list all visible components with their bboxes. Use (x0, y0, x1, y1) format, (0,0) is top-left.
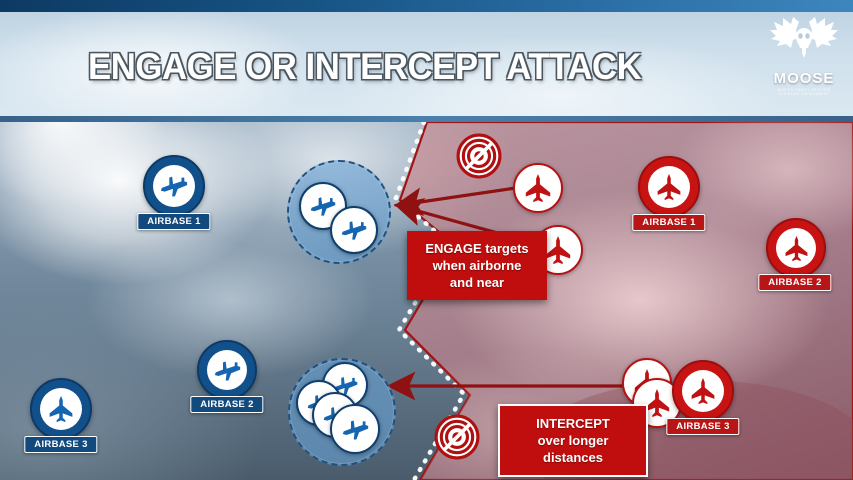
red-airbase-1-label: AIRBASE 1 (632, 214, 705, 231)
blue-airbase-3-marker[interactable] (30, 378, 92, 440)
blue-group-upper[interactable] (287, 160, 391, 264)
blue-airbase-3-label: AIRBASE 3 (24, 436, 97, 453)
jet-side-icon (159, 171, 189, 201)
red-airbase-2[interactable]: AIRBASE 2 (766, 218, 824, 294)
jet-side-icon (340, 216, 368, 244)
page-title: ENGAGE OR INTERCEPT ATTACK (88, 46, 641, 88)
slide-header: ENGAGE OR INTERCEPT ATTACK (0, 0, 853, 122)
intercept-callout: INTERCEPT over longer distances (498, 404, 648, 477)
jet-side-icon (213, 356, 242, 385)
blue-airbase-1-label: AIRBASE 1 (137, 213, 210, 230)
engage-callout-line-3: and near (417, 274, 537, 291)
header-top-bar (0, 0, 853, 12)
jet-top-icon (689, 377, 717, 405)
intercept-callout-line-3: distances (510, 449, 636, 466)
slide-canvas: ENGAGE OR INTERCEPT ATTACK MOOSE MISSION… (0, 0, 853, 480)
engage-callout-line-1: ENGAGE targets (417, 240, 537, 257)
header-bottom-bar (0, 116, 853, 122)
intercept-callout-line-1: INTERCEPT (510, 415, 636, 432)
red-airbase-1-marker[interactable] (638, 156, 700, 218)
engage-arrow-upper (400, 186, 529, 205)
blue-airbase-2-label: AIRBASE 2 (190, 396, 263, 413)
moose-logo: MOOSE MISSION OBJECT ORIENTED SCRIPTING … (769, 12, 839, 94)
jet-side-icon (309, 192, 337, 220)
red-airbase-1[interactable]: AIRBASE 1 (638, 156, 700, 236)
engage-callout: ENGAGE targets when airborne and near (407, 231, 547, 300)
jet-top-icon (783, 235, 810, 262)
red-airbase-3[interactable]: AIRBASE 3 (672, 360, 734, 440)
moose-antlers-icon (769, 12, 839, 70)
engage-callout-line-2: when airborne (417, 257, 537, 274)
red-airbase-2-label: AIRBASE 2 (758, 274, 831, 291)
jet-top-icon (47, 395, 75, 423)
blue-group-lower[interactable] (288, 358, 396, 466)
red-target-upper[interactable] (456, 133, 502, 179)
jet-top-icon (523, 173, 553, 203)
intercept-callout-line-2: over longer (510, 432, 636, 449)
red-airbase-3-label: AIRBASE 3 (666, 418, 739, 435)
red-airbase-2-marker[interactable] (766, 218, 826, 278)
blue-airbase-2-marker[interactable] (197, 340, 257, 400)
blue-airbase-2[interactable]: AIRBASE 2 (197, 340, 257, 418)
logo-tagline: MISSION OBJECT ORIENTED SCRIPTING ENVIRO… (769, 88, 839, 96)
blue-group-lower-aircraft-4[interactable] (330, 404, 380, 454)
jet-side-icon (341, 415, 370, 444)
logo-wordmark: MOOSE (769, 71, 839, 86)
red-attacker-1[interactable] (513, 163, 563, 213)
red-airbase-3-marker[interactable] (672, 360, 734, 422)
target-bullseye-icon (434, 414, 480, 460)
jet-top-icon (655, 173, 683, 201)
jet-top-icon (543, 235, 573, 265)
target-bullseye-icon (456, 133, 502, 179)
blue-airbase-3[interactable]: AIRBASE 3 (30, 378, 92, 458)
red-target-lower[interactable] (434, 414, 480, 460)
blue-airbase-1[interactable]: AIRBASE 1 (143, 155, 205, 235)
blue-group-upper-aircraft-2[interactable] (330, 206, 378, 254)
blue-airbase-1-marker[interactable] (143, 155, 205, 217)
